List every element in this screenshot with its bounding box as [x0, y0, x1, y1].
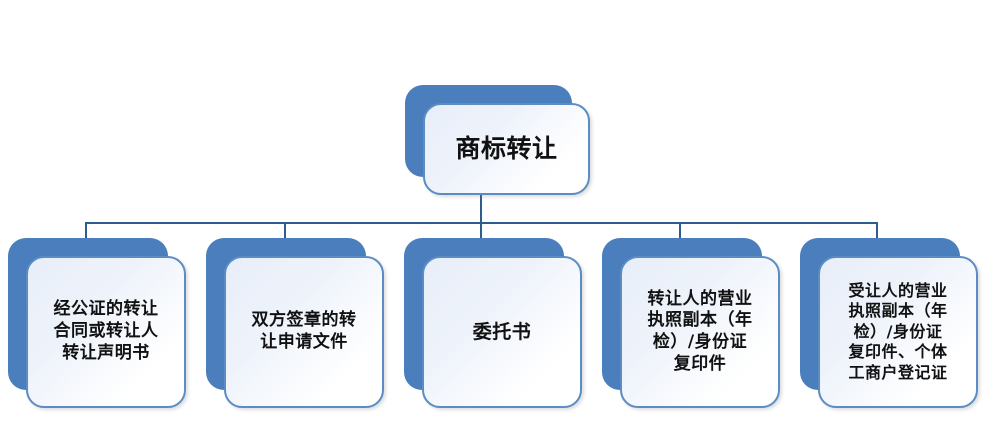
- node-root[interactable]: 商标转让: [405, 85, 572, 177]
- node-child-4-card[interactable]: 受让人的营业 执照副本（年 检）/身份证 复印件、个体 工商户登记证: [818, 256, 978, 408]
- node-child-0-label: 经公证的转让 合同或转让人 转让声明书: [54, 299, 159, 364]
- node-child-3-label: 转让人的营业 执照副本（年 检）/身份证 复印件: [648, 289, 753, 376]
- node-child-2-card[interactable]: 委托书: [422, 256, 582, 408]
- node-child-0-card[interactable]: 经公证的转让 合同或转让人 转让声明书: [26, 256, 186, 408]
- node-child-3[interactable]: 转让人的营业 执照副本（年 检）/身份证 复印件: [602, 238, 762, 390]
- node-child-1-label: 双方签章的转 让申请文件: [252, 310, 357, 354]
- node-child-2[interactable]: 委托书: [404, 238, 564, 390]
- node-child-3-card[interactable]: 转让人的营业 执照副本（年 检）/身份证 复印件: [620, 256, 780, 408]
- node-child-1[interactable]: 双方签章的转 让申请文件: [206, 238, 366, 390]
- node-child-1-card[interactable]: 双方签章的转 让申请文件: [224, 256, 384, 408]
- org-chart-diagram: 商标转让 经公证的转让 合同或转让人 转让声明书 双方签章的转 让申请文件 委托…: [0, 0, 994, 424]
- node-child-4-label: 受让人的营业 执照副本（年 检）/身份证 复印件、个体 工商户登记证: [848, 281, 947, 383]
- node-root-label: 商标转让: [455, 133, 557, 165]
- node-child-4[interactable]: 受让人的营业 执照副本（年 检）/身份证 复印件、个体 工商户登记证: [800, 238, 960, 390]
- node-root-card[interactable]: 商标转让: [423, 103, 590, 195]
- node-child-2-label: 委托书: [473, 320, 532, 344]
- node-child-0[interactable]: 经公证的转让 合同或转让人 转让声明书: [8, 238, 168, 390]
